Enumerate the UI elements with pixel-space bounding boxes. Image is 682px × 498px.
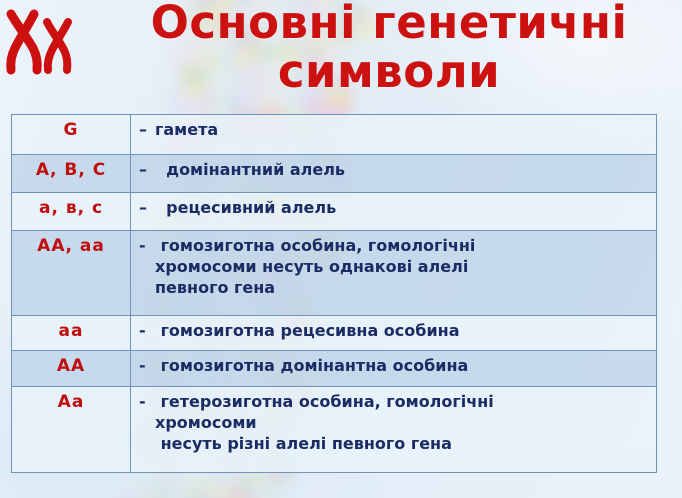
dash-separator: –	[139, 120, 155, 141]
symbol-cell: А, В, С	[12, 155, 131, 192]
table-row: а, в, с– рецесивний алель	[12, 193, 656, 231]
description-line: гетерозиготна особина, гомологічні	[155, 392, 494, 413]
symbol-cell: а, в, с	[12, 193, 131, 230]
dash-separator: -	[139, 392, 155, 413]
symbol-cell: G	[12, 115, 131, 154]
table-row: АА- гомозиготна домінантна особина	[12, 351, 656, 387]
table-row: Аа- гетерозиготна особина, гомологічніхр…	[12, 387, 656, 472]
table-row: аа- гомозиготна рецесивна особина	[12, 316, 656, 351]
dash-separator: –	[139, 198, 155, 219]
description-cell: – домінантний алель	[131, 155, 656, 192]
description-line: домінантний алель	[155, 160, 345, 181]
description-cell: - гомозиготна рецесивна особина	[131, 316, 656, 350]
symbol-cell: АА, аа	[12, 231, 131, 315]
description-text: рецесивний алель	[155, 198, 336, 219]
dash-separator: -	[139, 321, 155, 342]
description-text: гомозиготна особина, гомологічніхромосом…	[155, 236, 475, 298]
table-row: А, В, С– домінантний алель	[12, 155, 656, 193]
description-line: рецесивний алель	[155, 198, 336, 219]
description-text: домінантний алель	[155, 160, 345, 181]
description-text: гамета	[155, 120, 218, 141]
dash-separator: –	[139, 160, 155, 181]
table-row: G–гамета	[12, 115, 656, 155]
description-cell: - гомозиготна домінантна особина	[131, 351, 656, 386]
description-cell: - гетерозиготна особина, гомологічніхром…	[131, 387, 656, 472]
description-line: гомозиготна домінантна особина	[155, 356, 468, 377]
description-line: хромосоми несуть однакові алелі	[155, 257, 475, 278]
dash-separator: -	[139, 236, 155, 257]
description-cell: –гамета	[131, 115, 656, 154]
description-line: гомозиготна рецесивна особина	[155, 321, 460, 342]
description-line: несуть різні алелі певного гена	[155, 434, 494, 455]
description-line: хромосоми	[155, 413, 494, 434]
table-row: АА, аа- гомозиготна особина, гомологічні…	[12, 231, 656, 316]
description-text: гомозиготна домінантна особина	[155, 356, 468, 377]
dash-separator: -	[139, 356, 155, 377]
description-text: гетерозиготна особина, гомологічніхромос…	[155, 392, 494, 454]
description-line: певного гена	[155, 278, 475, 299]
chromosome-pair-icon	[4, 6, 78, 78]
description-cell: – рецесивний алель	[131, 193, 656, 230]
description-cell: - гомозиготна особина, гомологічніхромос…	[131, 231, 656, 315]
symbol-cell: АА	[12, 351, 131, 386]
symbol-cell: Аа	[12, 387, 131, 472]
genetic-symbols-table: G–гаметаА, В, С– домінантний алельа, в, …	[11, 114, 657, 473]
description-line: гомозиготна особина, гомологічні	[155, 236, 475, 257]
symbol-cell: аа	[12, 316, 131, 350]
description-text: гомозиготна рецесивна особина	[155, 321, 460, 342]
description-line: гамета	[155, 120, 218, 141]
